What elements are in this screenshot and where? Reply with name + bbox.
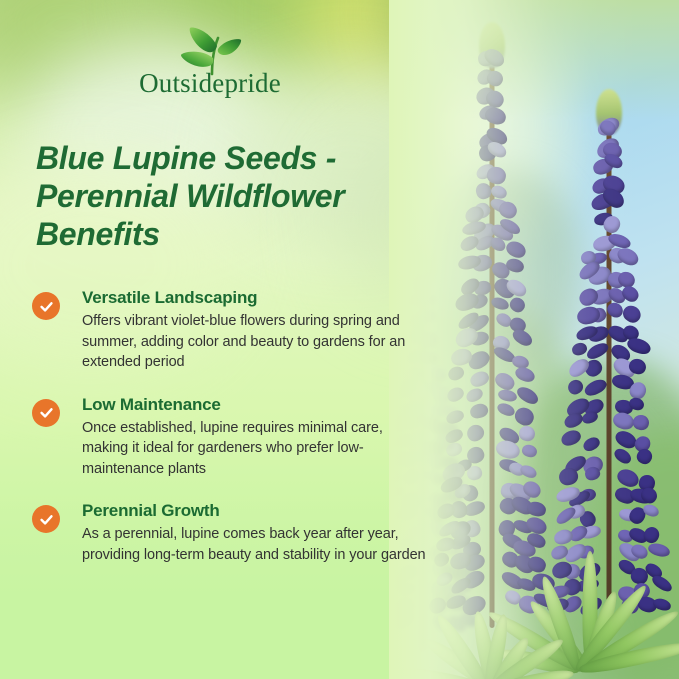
headline-line-1: Blue Lupine Seeds - bbox=[36, 140, 428, 178]
headline-line-2: Perennial Wildflower bbox=[36, 178, 428, 216]
check-circle-icon bbox=[32, 399, 60, 427]
page-title: Blue Lupine Seeds - Perennial Wildflower… bbox=[36, 140, 428, 253]
benefit-title: Low Maintenance bbox=[82, 395, 432, 415]
benefit-item: Versatile Landscaping Offers vibrant vio… bbox=[32, 288, 432, 373]
infographic-poster: Outsidepride Blue Lupine Seeds - Perenni… bbox=[0, 0, 679, 679]
benefit-item: Low Maintenance Once established, lupine… bbox=[32, 395, 432, 480]
benefit-item: Perennial Growth As a perennial, lupine … bbox=[32, 501, 432, 565]
check-circle-icon bbox=[32, 505, 60, 533]
benefit-description: Once established, lupine requires minima… bbox=[82, 418, 432, 480]
benefits-list: Versatile Landscaping Offers vibrant vio… bbox=[32, 288, 432, 588]
check-circle-icon bbox=[32, 292, 60, 320]
benefit-description: As a perennial, lupine comes back year a… bbox=[82, 524, 432, 565]
headline-line-3: Benefits bbox=[36, 216, 428, 254]
benefit-description: Offers vibrant violet-blue flowers durin… bbox=[82, 311, 432, 373]
content-column: Outsidepride Blue Lupine Seeds - Perenni… bbox=[0, 0, 440, 679]
brand-logo: Outsidepride bbox=[0, 22, 420, 99]
benefit-title: Versatile Landscaping bbox=[82, 288, 432, 308]
benefit-title: Perennial Growth bbox=[82, 501, 432, 521]
leaf-sprout-icon bbox=[168, 22, 252, 84]
